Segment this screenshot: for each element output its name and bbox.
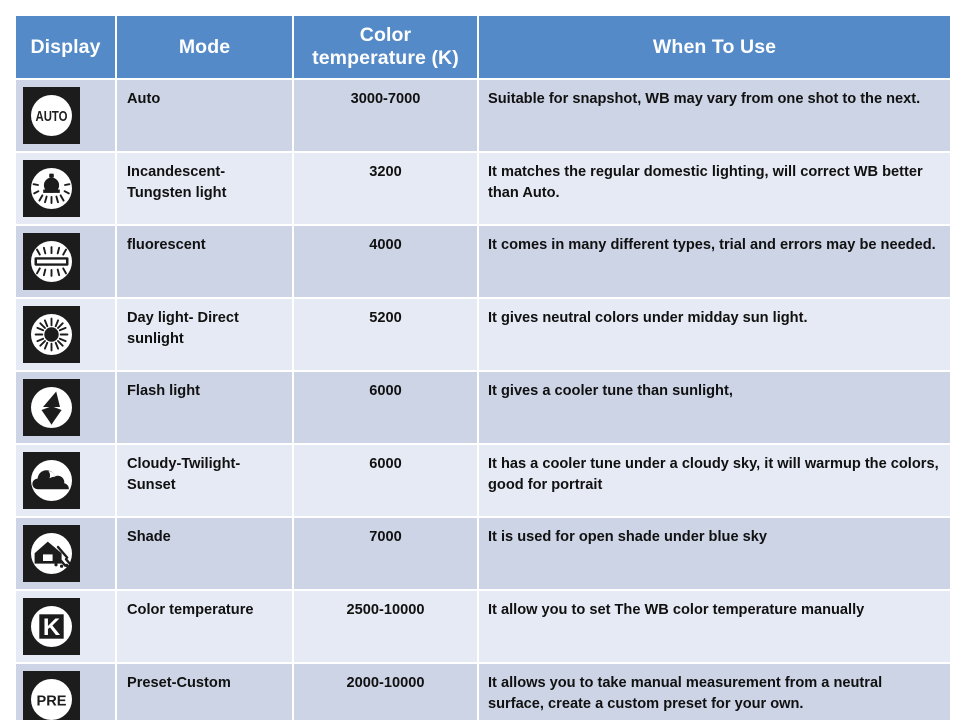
cell-display bbox=[16, 372, 115, 443]
table-row: Flash light 6000 It gives a cooler tune … bbox=[16, 372, 950, 443]
table-header-row: Display Mode Color temperature (K) When … bbox=[16, 16, 950, 78]
cell-when-to-use: It allows you to take manual measurement… bbox=[479, 664, 950, 720]
table-row: K Color temperature 2500-10000 It allow … bbox=[16, 591, 950, 662]
cell-display bbox=[16, 153, 115, 224]
cell-when-to-use: It allow you to set The WB color tempera… bbox=[479, 591, 950, 662]
fluorescent-tube-icon bbox=[23, 233, 80, 290]
table-row: fluorescent 4000 It comes in many differ… bbox=[16, 226, 950, 297]
column-header-color-temperature-line1: Color bbox=[300, 24, 471, 47]
cell-mode: Auto bbox=[117, 80, 292, 151]
column-header-display: Display bbox=[16, 16, 115, 78]
white-balance-table: Display Mode Color temperature (K) When … bbox=[14, 14, 952, 720]
flash-bolt-icon bbox=[23, 379, 80, 436]
table-row: AUTO Auto 3000-7000 Suitable for snapsho… bbox=[16, 80, 950, 151]
table-row: Cloudy-Twilight-Sunset 6000 It has a coo… bbox=[16, 445, 950, 516]
cell-when-to-use: It is used for open shade under blue sky bbox=[479, 518, 950, 589]
incandescent-bulb-icon bbox=[23, 160, 80, 217]
preset-pre-icon: PRE bbox=[23, 671, 80, 720]
shade-house-icon bbox=[23, 525, 80, 582]
cell-color-temperature: 6000 bbox=[294, 445, 477, 516]
table-row: Shade 7000 It is used for open shade und… bbox=[16, 518, 950, 589]
svg-text:K: K bbox=[43, 614, 61, 641]
cell-mode: Incandescent-Tungsten light bbox=[117, 153, 292, 224]
svg-text:AUTO: AUTO bbox=[36, 109, 68, 125]
cell-when-to-use: It gives a cooler tune than sunlight, bbox=[479, 372, 950, 443]
cell-mode: Flash light bbox=[117, 372, 292, 443]
cell-mode: Cloudy-Twilight-Sunset bbox=[117, 445, 292, 516]
cell-display bbox=[16, 445, 115, 516]
auto-wb-icon: AUTO bbox=[23, 87, 80, 144]
cell-color-temperature: 7000 bbox=[294, 518, 477, 589]
cloudy-cloud-icon bbox=[23, 452, 80, 509]
column-header-when-to-use: When To Use bbox=[479, 16, 950, 78]
cell-mode: Color temperature bbox=[117, 591, 292, 662]
table-row: Day light- Direct sunlight 5200 It gives… bbox=[16, 299, 950, 370]
cell-display bbox=[16, 299, 115, 370]
cell-when-to-use: It has a cooler tune under a cloudy sky,… bbox=[479, 445, 950, 516]
cell-display: K bbox=[16, 591, 115, 662]
cell-color-temperature: 3000-7000 bbox=[294, 80, 477, 151]
table-row: Incandescent-Tungsten light 3200 It matc… bbox=[16, 153, 950, 224]
cell-color-temperature: 5200 bbox=[294, 299, 477, 370]
table-row: PRE Preset-Custom 2000-10000 It allows y… bbox=[16, 664, 950, 720]
cell-display: AUTO bbox=[16, 80, 115, 151]
cell-when-to-use: It matches the regular domestic lighting… bbox=[479, 153, 950, 224]
cell-mode: Shade bbox=[117, 518, 292, 589]
cell-color-temperature: 2500-10000 bbox=[294, 591, 477, 662]
cell-color-temperature: 4000 bbox=[294, 226, 477, 297]
cell-color-temperature: 2000-10000 bbox=[294, 664, 477, 720]
white-balance-reference-sheet: Display Mode Color temperature (K) When … bbox=[0, 0, 960, 720]
cell-when-to-use: Suitable for snapshot, WB may vary from … bbox=[479, 80, 950, 151]
daylight-sun-icon bbox=[23, 306, 80, 363]
cell-when-to-use: It comes in many different types, trial … bbox=[479, 226, 950, 297]
svg-text:PRE: PRE bbox=[37, 693, 67, 710]
cell-when-to-use: It gives neutral colors under midday sun… bbox=[479, 299, 950, 370]
cell-color-temperature: 6000 bbox=[294, 372, 477, 443]
cell-display bbox=[16, 226, 115, 297]
cell-display bbox=[16, 518, 115, 589]
cell-display: PRE bbox=[16, 664, 115, 720]
cell-mode: Day light- Direct sunlight bbox=[117, 299, 292, 370]
cell-mode: fluorescent bbox=[117, 226, 292, 297]
cell-mode: Preset-Custom bbox=[117, 664, 292, 720]
table-header: Display Mode Color temperature (K) When … bbox=[16, 16, 950, 78]
cell-color-temperature: 3200 bbox=[294, 153, 477, 224]
column-header-mode: Mode bbox=[117, 16, 292, 78]
column-header-color-temperature-line2: temperature (K) bbox=[300, 47, 471, 70]
table-body: AUTO Auto 3000-7000 Suitable for snapsho… bbox=[16, 80, 950, 720]
kelvin-k-icon: K bbox=[23, 598, 80, 655]
column-header-color-temperature: Color temperature (K) bbox=[294, 16, 477, 78]
